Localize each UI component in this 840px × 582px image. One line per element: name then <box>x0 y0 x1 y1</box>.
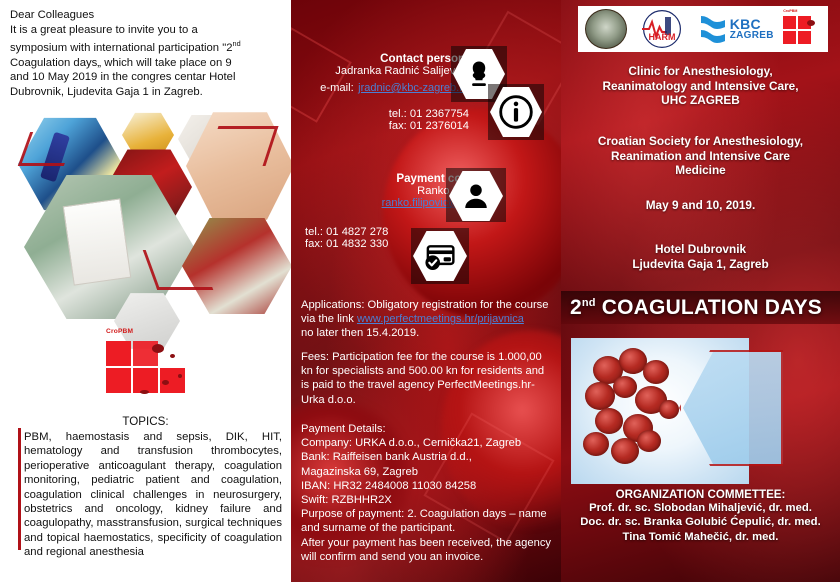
fees-block: Fees: Participation fee for the course i… <box>301 350 559 407</box>
applications-line-1: Applications: Obligatory registration fo… <box>301 298 557 312</box>
applications-line-2: via the link www.perfectmeetings.hr/prij… <box>301 312 557 326</box>
sponsor-logo-bar: HARM KBC ZAGREB CroPBM <box>578 6 828 52</box>
organizer-clinic: Clinic for Anesthesiology, Reanimatology… <box>561 64 840 108</box>
cropbm-small-square-4 <box>783 31 796 44</box>
cropbm-small-label: CroPBM <box>783 9 797 13</box>
fees-line-3: is paid to the travel agency PerfectMeet… <box>301 378 559 392</box>
rbc-12 <box>659 400 679 419</box>
intro-line-2-text: symposium with international participati… <box>10 42 233 54</box>
contact-person-name: Jadranka Radnić Salijevski <box>291 65 469 77</box>
blood-splatter-4 <box>140 390 149 394</box>
blood-splatter-5 <box>178 374 182 378</box>
svg-text:HARM: HARM <box>649 32 676 42</box>
event-title-rest: COAGULATION DAYS <box>596 296 822 319</box>
contact-fax: fax: 01 2376014 <box>291 120 469 132</box>
payment-purpose-line-2: and surname of the participant. <box>301 521 561 535</box>
cropbm-logo: CroPBM <box>100 330 192 404</box>
clinic-line-1: Clinic for Anesthesiology, <box>561 64 840 79</box>
kbc-logo-text: KBC <box>730 17 774 31</box>
rbc-9 <box>583 432 609 456</box>
greeting: Dear Colleagues <box>10 8 282 23</box>
event-title-number: 2 <box>570 296 582 319</box>
payment-confirm-line-2: will confirm and send you an invoice. <box>301 550 561 564</box>
rbc-7 <box>595 408 623 434</box>
organizer-society: Croatian Society for Anesthesiology, Rea… <box>561 134 840 178</box>
rbc-10 <box>611 438 639 464</box>
fees-line-2: kn for specialists and 500.00 kn for res… <box>301 364 559 378</box>
rbc-4 <box>585 382 615 410</box>
intro-line-4: and 10 May 2019 in the congres centar Ho… <box>10 70 282 85</box>
middle-panel: Contact person: Jadranka Radnić Salijevs… <box>291 0 561 582</box>
left-panel: Dear Colleagues It is a great pleasure t… <box>0 0 291 582</box>
committee-member: Doc. dr. sc. Branka Golubić Ćepulić, dr.… <box>561 515 840 529</box>
intro-line-5: Dubrovnik, Ljudevita Gaja 1 in Zagreb. <box>10 85 282 100</box>
rbc-11 <box>637 430 661 452</box>
fees-line-4: Urka d.o.o. <box>301 393 559 407</box>
event-title-ordinal: nd <box>582 297 596 309</box>
contact-tel: tel.: 01 2367754 <box>291 108 469 120</box>
clinic-line-3: UHC ZAGREB <box>561 93 840 108</box>
payment-details-heading: Payment Details: <box>301 422 561 436</box>
payment-iban: IBAN: HR32 2484008 11030 84258 <box>301 479 561 493</box>
kbc-zagreb-logo: KBC ZAGREB <box>698 9 774 49</box>
society-line-3: Medicine <box>561 163 840 178</box>
applications-link-prefix: via the link <box>301 313 357 325</box>
cropbm-logo-label: CroPBM <box>106 328 133 335</box>
cropbm-small-square-3 <box>798 31 811 44</box>
payment-swift: Swift: RZBHHR2X <box>301 493 561 507</box>
contact-person-heading: Contact person: <box>291 52 469 65</box>
harm-logo: HARM <box>634 9 690 49</box>
blood-splatter-3 <box>162 380 169 385</box>
blood-splatter-2 <box>170 354 175 358</box>
committee-heading: ORGANIZATION COMMETTEE: <box>561 488 840 501</box>
cropbm-square-1 <box>106 341 131 366</box>
contact-phone-block: tel.: 01 2367754 fax: 01 2376014 <box>291 108 469 132</box>
right-panel: HARM KBC ZAGREB CroPBM <box>561 0 840 582</box>
payment-company: Company: URKA d.o.o., Cernička21, Zagreb <box>301 436 561 450</box>
fees-line-1: Fees: Participation fee for the course i… <box>301 350 559 364</box>
society-line-2: Reanimation and Intensive Care <box>561 149 840 164</box>
rbc-3 <box>643 360 669 384</box>
event-title-banner: 2nd COAGULATION DAYS <box>561 291 840 324</box>
payment-bank-line-1: Bank: Raiffeisen bank Austria d.d., <box>301 450 561 464</box>
cropbm-logo-small: CroPBM <box>781 10 821 48</box>
cropbm-square-4 <box>106 368 131 393</box>
venue-line-2: Ljudevita Gaja 1, Zagreb <box>561 257 840 272</box>
university-seal-logo <box>585 9 627 49</box>
contact-email-label: e-mail: <box>320 82 354 94</box>
brochure-page: Dear Colleagues It is a great pleasure t… <box>0 0 840 582</box>
payment-confirm-line-1: After your payment has been received, th… <box>301 536 561 550</box>
topics-list: PBM, haemostasis and sepsis, DIK, HIT, h… <box>24 430 282 560</box>
applications-block: Applications: Obligatory registration fo… <box>301 298 557 341</box>
committee-member: Prof. dr. sc. Slobodan Mihaljević, dr. m… <box>561 501 840 515</box>
topics-title: TOPICS: <box>0 415 291 428</box>
event-venue: Hotel Dubrovnik Ljudevita Gaja 1, Zagreb <box>561 242 840 271</box>
university-seal-icon <box>585 9 627 49</box>
ordinal-suffix: nd <box>233 39 241 48</box>
clinic-line-2: Reanimatology and Intensive Care, <box>561 79 840 94</box>
invitation-text: Dear Colleagues It is a great pleasure t… <box>10 8 282 99</box>
topics-accent-bar <box>18 428 21 550</box>
organization-committee: ORGANIZATION COMMETTEE: Prof. dr. sc. Sl… <box>561 488 840 544</box>
venue-line-1: Hotel Dubrovnik <box>561 242 840 257</box>
intro-line-1: It is a great pleasure to invite you to … <box>10 23 282 38</box>
cropbm-small-splatter <box>807 20 815 26</box>
event-date: May 9 and 10, 2019. <box>561 198 840 213</box>
contact-person-block: Contact person: Jadranka Radnić Salijevs… <box>291 52 469 96</box>
blood-splatter-1 <box>152 344 164 353</box>
contact-person-email-row: e-mail: jradnic@kbc-zagreb.hr <box>291 78 469 96</box>
cropbm-small-square-1 <box>783 16 796 29</box>
society-line-1: Croatian Society for Anesthesiology, <box>561 134 840 149</box>
rbc-5 <box>613 376 637 398</box>
payment-details-block: Payment Details: Company: URKA d.o.o., C… <box>301 422 561 564</box>
zagreb-logo-text: ZAGREB <box>730 31 774 41</box>
applications-line-3: no later then 15.4.2019. <box>301 326 557 340</box>
registration-link[interactable]: www.perfectmeetings.hr/prijavnica <box>357 313 524 325</box>
committee-member: Tina Tomić Mahečić, dr. med. <box>561 530 840 544</box>
payment-purpose-line-1: Purpose of payment: 2. Coagulation days … <box>301 507 561 521</box>
payment-bank-line-2: Magazinska 69, Zagreb <box>301 465 561 479</box>
intro-line-3: Coagulation days„ which will take place … <box>10 56 282 71</box>
intro-line-2: symposium with international participati… <box>10 37 282 55</box>
event-title: 2nd COAGULATION DAYS <box>561 296 822 320</box>
